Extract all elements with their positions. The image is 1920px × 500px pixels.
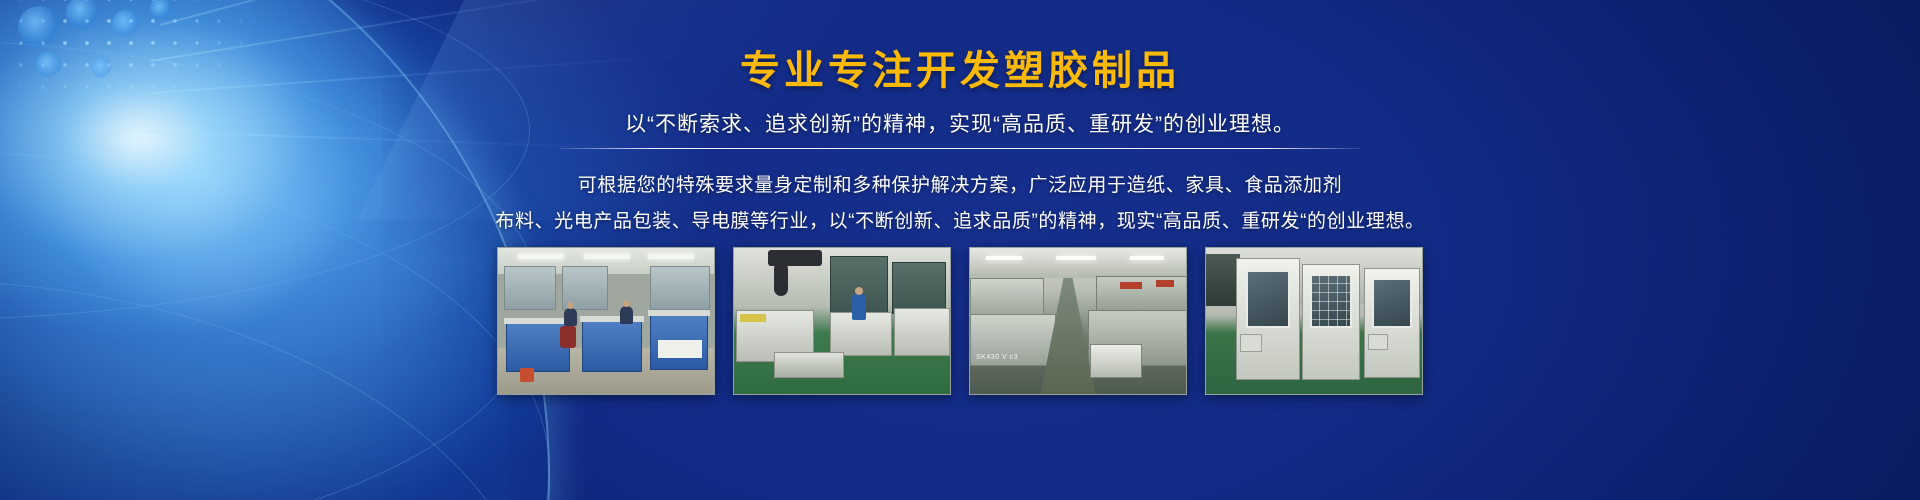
machine [892,262,946,314]
photo-scene [1206,248,1422,394]
machine-marker [1156,280,1174,287]
control-panel [1240,334,1262,352]
workstation [582,320,642,372]
ceiling [970,248,1186,278]
photo-production-line-hall[interactable]: SK430 V c3 [969,247,1187,395]
machine-window [1246,270,1290,328]
machine-window [1372,278,1412,328]
machine-marker [1120,282,1142,289]
desk-top [648,310,710,316]
desk-top [504,318,572,324]
worker [852,294,866,320]
banner-subtitle: 以“不断索求、追求创新”的精神，实现“高品质、重研发”的创业理想。 [0,108,1920,138]
machine-base [774,352,844,378]
photo-scene [498,248,714,394]
photo-cnc-machine-shop[interactable] [733,247,951,395]
photo-scene: SK430 V c3 [970,248,1186,394]
control-panel [1368,334,1388,350]
duct [774,262,788,296]
banner-description-line-2: 布料、光电产品包装、导电膜等行业，以“不断创新、追求品质”的精神，现实“高品质、… [0,206,1920,233]
machine-panel [740,314,766,322]
banner-content: 专业专注开发塑胶制品 以“不断索求、追求创新”的精神，实现“高品质、重研发”的创… [0,0,1920,500]
chair [560,326,576,348]
waste-bin [520,368,534,382]
banner-description-line-1: 可根据您的特殊要求量身定制和多种保护解决方案，广泛应用于造纸、家具、食品添加剂 [0,170,1920,197]
photo-office-workstations[interactable] [497,247,715,395]
machine [894,308,950,356]
photo-scene [734,248,950,394]
photo-strip: SK430 V c3 [497,247,1423,395]
background-machinery [1206,254,1240,306]
promo-banner: 专业专注开发塑胶制品 以“不断索求、追求创新”的精神，实现“高品质、重研发”的创… [0,0,1920,500]
desk-top [658,340,702,358]
machine-label: SK430 V c3 [976,354,1018,361]
machine-unit [1090,344,1142,378]
page-title: 专业专注开发塑胶制品 [0,38,1920,96]
desk-top [580,316,644,322]
window [650,266,710,310]
person [564,308,577,326]
divider [560,148,1360,149]
person [620,306,633,324]
machine-grid [1310,274,1352,328]
window [504,266,556,310]
photo-cnc-milling-machine[interactable] [1205,247,1423,395]
